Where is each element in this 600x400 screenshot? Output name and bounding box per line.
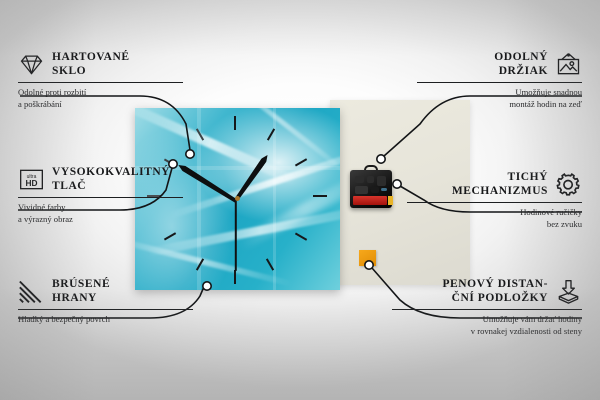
feature-foam-spacers: PENOVÝ DISTAN- ČNÍ PODLOŽKY Umožňuje vám… <box>392 277 582 338</box>
feature-title: TICHÝ MECHANIZMUS <box>452 170 548 199</box>
feature-header: ultra HD VYSOKOKVALITNÝ TLAČ <box>18 165 183 194</box>
feature-title: BRÚSENÉ HRANY <box>52 277 110 306</box>
feature-subtitle: a poškrábání <box>18 99 183 111</box>
feature-subtitle: Umožňuje snadnou <box>417 87 582 99</box>
feature-silent-mechanism: TICHÝ MECHANIZMUS Hodinové ručičky bez z… <box>407 170 582 231</box>
clock-mechanism <box>350 170 392 208</box>
mechanism-detail <box>367 176 374 183</box>
feature-polished-edges: BRÚSENÉ HRANY Hladký a bezpečný povrch <box>18 277 193 326</box>
feature-subtitle: montáž hodin na zeď <box>417 99 582 111</box>
ultra-hd-icon: ultra HD <box>18 167 45 192</box>
feature-header: ODOLNÝ DRŽIAK <box>417 50 582 79</box>
diamond-icon <box>18 52 45 77</box>
feature-header: TICHÝ MECHANIZMUS <box>407 170 582 199</box>
clock-tick <box>164 232 176 240</box>
clock-print-grid <box>273 108 276 290</box>
feature-title: ODOLNÝ DRŽIAK <box>494 50 548 79</box>
foam-spacer-pad <box>359 250 376 266</box>
feature-header: PENOVÝ DISTAN- ČNÍ PODLOŽKY <box>392 277 582 306</box>
svg-text:HD: HD <box>25 178 37 188</box>
clock-center-pin <box>235 196 240 201</box>
divider <box>18 309 193 311</box>
feature-subtitle: Vividné farby <box>18 202 183 214</box>
feature-durable-hanger: ODOLNÝ DRŽIAK Umožňuje snadnou montáž ho… <box>417 50 582 111</box>
mechanism-detail <box>355 176 364 183</box>
gear-icon <box>555 172 582 197</box>
mechanism-detail <box>381 188 387 191</box>
divider <box>18 82 183 84</box>
foam-pad-icon <box>555 279 582 304</box>
feature-subtitle: v rovnakej vzdialenosti od steny <box>392 326 582 338</box>
feature-subtitle: a výrazný obraz <box>18 214 183 226</box>
feature-header: HARTOVANÉ SKLO <box>18 50 183 79</box>
product-infographic: HARTOVANÉ SKLO Odolné proti rozbití a po… <box>0 0 600 400</box>
feature-title: PENOVÝ DISTAN- ČNÍ PODLOŽKY <box>442 277 548 306</box>
clock-tick <box>313 195 327 197</box>
divider <box>18 197 183 199</box>
feature-tempered-glass: HARTOVANÉ SKLO Odolné proti rozbití a po… <box>18 50 183 111</box>
feature-header: BRÚSENÉ HRANY <box>18 277 193 306</box>
battery <box>353 196 387 205</box>
mechanism-detail <box>355 186 368 194</box>
feature-subtitle: Hladký a bezpečný povrch <box>18 314 193 326</box>
clock-tick <box>295 232 307 240</box>
brushed-edges-icon <box>18 279 45 304</box>
clock-tick <box>234 270 236 284</box>
divider <box>392 309 582 311</box>
battery-tip <box>388 196 393 205</box>
mechanism-detail <box>377 176 386 186</box>
divider <box>417 82 582 84</box>
clock-tick <box>234 116 236 130</box>
feature-title: HARTOVANÉ SKLO <box>52 50 130 79</box>
mechanism-detail <box>371 187 379 193</box>
feature-subtitle: Hodinové ručičky <box>407 207 582 219</box>
picture-hanger-icon <box>555 52 582 77</box>
feature-high-quality-print: ultra HD VYSOKOKVALITNÝ TLAČ Vividné far… <box>18 165 183 226</box>
feature-subtitle: bez zvuku <box>407 219 582 231</box>
feature-title: VYSOKOKVALITNÝ TLAČ <box>52 165 170 194</box>
clock-second-hand <box>235 199 237 271</box>
divider <box>407 202 582 204</box>
feature-subtitle: Umožňuje vám držať hodiny <box>392 314 582 326</box>
feature-subtitle: Odolné proti rozbití <box>18 87 183 99</box>
